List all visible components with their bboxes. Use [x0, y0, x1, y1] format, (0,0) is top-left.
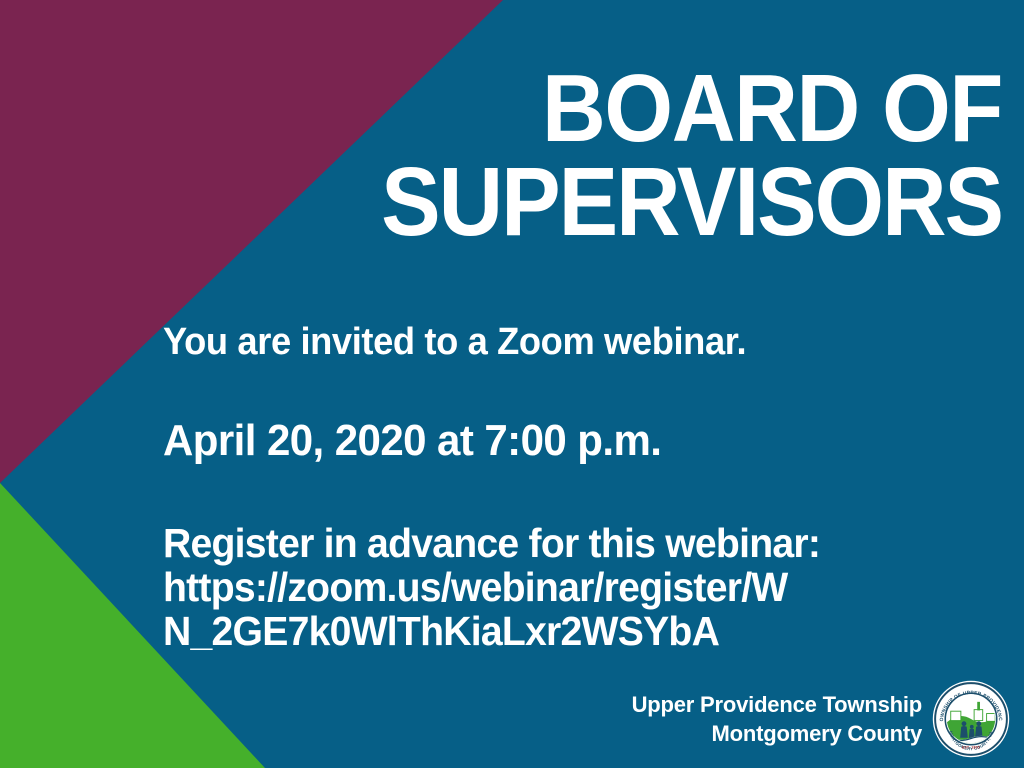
poster-title: BOARD OF SUPERVISORS	[142, 62, 1002, 249]
footer-township-name: Upper Providence Township	[632, 690, 922, 719]
registration-url-line-2[interactable]: N_2GE7k0WlThKiaLxr2WSYbA	[163, 609, 965, 653]
body-spacer-1	[163, 362, 1003, 418]
seal-steeple	[977, 702, 980, 711]
register-label: Register in advance for this webinar:	[163, 521, 965, 565]
poster-footer: Upper Providence Township Montgomery Cou…	[632, 680, 1010, 758]
event-datetime: April 20, 2020 at 7:00 p.m.	[163, 418, 965, 465]
registration-url-line-1[interactable]: https://zoom.us/webinar/register/W	[163, 565, 965, 609]
registration-group: Register in advance for this webinar: ht…	[163, 521, 1003, 654]
webinar-announcement-poster: BOARD OF SUPERVISORS You are invited to …	[0, 0, 1024, 768]
seal-building-center	[974, 710, 983, 721]
seal-building-right	[987, 714, 996, 722]
poster-body: You are invited to a Zoom webinar. April…	[163, 322, 1003, 654]
seal-date-text: EST. 1805	[962, 746, 980, 750]
title-line-supervisors: SUPERVISORS	[211, 155, 1002, 249]
body-spacer-2	[163, 465, 1003, 521]
seal-building-left	[951, 711, 961, 720]
title-line-board-of: BOARD OF	[211, 62, 1002, 155]
invitation-text: You are invited to a Zoom webinar.	[163, 322, 965, 362]
footer-county-name: Montgomery County	[632, 719, 922, 748]
township-seal-icon: TOWNSHIP OF UPPER PROVIDENCE MONTGOMERY …	[932, 680, 1010, 758]
footer-organization: Upper Providence Township Montgomery Cou…	[632, 690, 922, 748]
